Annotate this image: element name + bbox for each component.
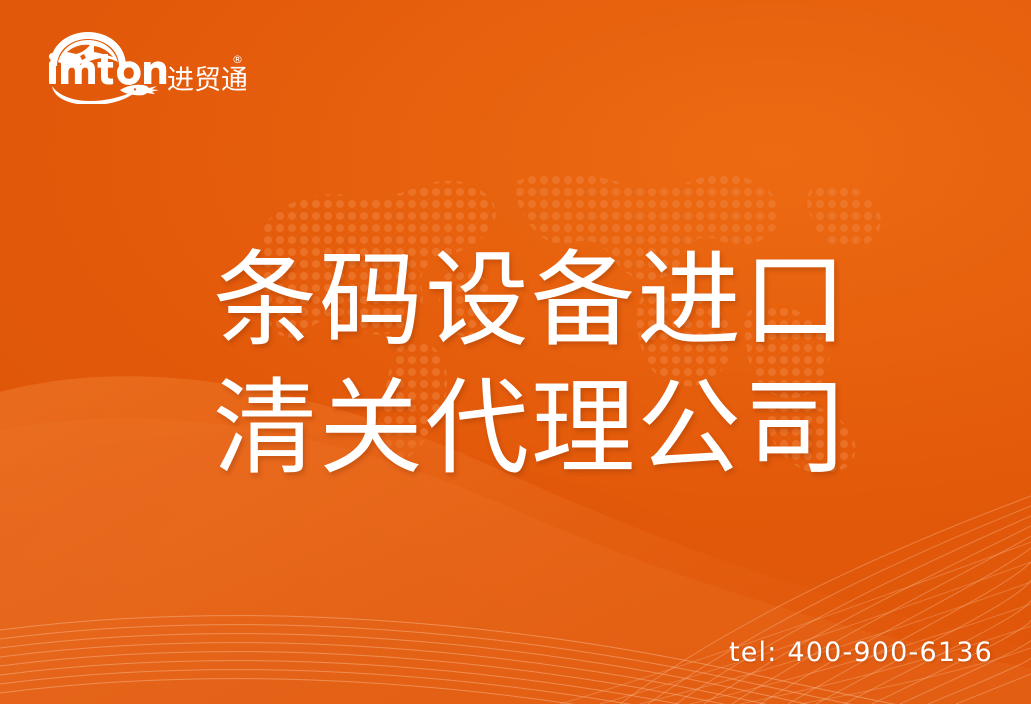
- registered-trademark-icon: ®: [232, 53, 243, 66]
- company-logo[interactable]: 进贸通 ®: [36, 28, 246, 104]
- headline-line-1: 条码设备进口: [213, 236, 873, 364]
- page-title: 条码设备进口 清关代理公司: [213, 236, 873, 492]
- globe-icon: [50, 32, 126, 66]
- contact-phone[interactable]: tel: 400-900-6136: [729, 637, 993, 668]
- logo-chinese-name: 进贸通: [167, 65, 246, 96]
- swoosh-fish-icon: [52, 85, 159, 104]
- promo-banner: 进贸通 ® 条码设备进口 清关代理公司 tel: 400-900-6136: [0, 0, 1031, 704]
- headline-line-2: 清关代理公司: [213, 364, 873, 492]
